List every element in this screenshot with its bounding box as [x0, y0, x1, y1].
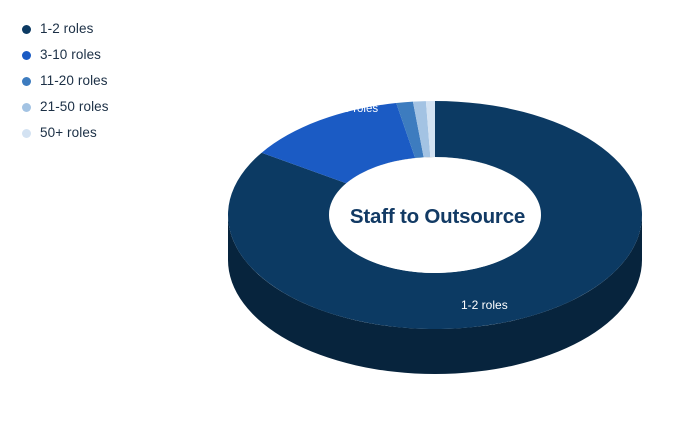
chart-legend: 1-2 roles 3-10 roles 11-20 roles 21-50 r… [22, 16, 202, 146]
legend-item-label: 21-50 roles [40, 94, 109, 120]
donut-chart: 1-2 roles 3-10 roles 11-20 roles 21-50 r… [0, 0, 700, 441]
legend-item-label: 11-20 roles [40, 68, 108, 94]
legend-swatch-icon [22, 129, 31, 138]
legend-item-label: 1-2 roles [40, 16, 93, 42]
donut-layers [228, 101, 642, 374]
legend-swatch-icon [22, 103, 31, 112]
legend-swatch-icon [22, 77, 31, 86]
legend-item-50-plus-roles[interactable]: 50+ roles [22, 120, 202, 146]
donut-hole [329, 157, 541, 273]
legend-item-label: 3-10 roles [40, 42, 101, 68]
legend-swatch-icon [22, 25, 31, 34]
legend-item-3-10-roles[interactable]: 3-10 roles [22, 42, 202, 68]
legend-item-label: 50+ roles [40, 120, 97, 146]
legend-item-11-20-roles[interactable]: 11-20 roles [22, 68, 202, 94]
legend-item-21-50-roles[interactable]: 21-50 roles [22, 94, 202, 120]
legend-swatch-icon [22, 51, 31, 60]
legend-item-1-2-roles[interactable]: 1-2 roles [22, 16, 202, 42]
